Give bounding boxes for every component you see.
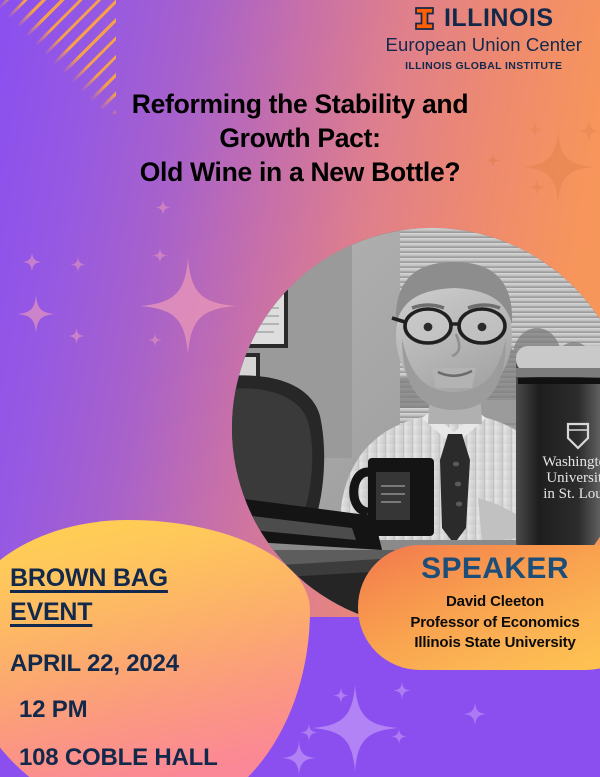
event-label-line-1: BROWN BAG [10, 563, 168, 595]
sparkle-icon [152, 246, 168, 265]
event-label-line-2-wrap: EVENT [10, 597, 280, 629]
svg-text:University: University [546, 470, 600, 486]
title-line-1: Reforming the Stability and [34, 88, 566, 122]
event-date: APRIL 22, 2024 [10, 650, 280, 678]
illinois-logo: ILLINOIS European Union Center ILLINOIS … [386, 6, 582, 71]
sparkle-icon [70, 255, 86, 274]
block-i-icon [414, 7, 435, 30]
sparkle-icon [17, 292, 55, 336]
title-line-3: Old Wine in a New Bottle? [34, 156, 566, 190]
sparkle-icon [140, 250, 236, 362]
event-details: BROWN BAG EVENT APRIL 22, 2024 12 PM 108… [10, 563, 280, 772]
logo-wordmark-row: ILLINOIS [386, 6, 582, 31]
sparkle-icon [155, 198, 171, 217]
speaker-title: Professor of Economics [390, 613, 600, 634]
event-poster: Washington University in St. Louis [0, 0, 600, 777]
logo-institute-name: ILLINOIS GLOBAL INSTITUTE [386, 61, 582, 72]
speaker-affiliation: Illinois State University [390, 633, 600, 654]
event-label-line-2: EVENT [10, 597, 92, 629]
speaker-details: SPEAKER David Cleeton Professor of Econo… [390, 552, 600, 654]
sparkle-icon [148, 332, 162, 348]
title-line-2: Growth Pact: [34, 122, 566, 156]
event-location: 108 COBLE HALL [19, 744, 280, 772]
svg-text:in St. Louis: in St. Louis [543, 486, 600, 502]
event-time: 12 PM [19, 696, 280, 724]
logo-unit-name: European Union Center [386, 36, 582, 55]
svg-text:Washington: Washington [542, 454, 600, 470]
speaker-name: David Cleeton [390, 592, 600, 613]
sparkle-icon [68, 326, 85, 346]
speaker-heading: SPEAKER [390, 552, 600, 585]
event-label-line-1-wrap: BROWN BAG [10, 563, 280, 595]
poster-title: Reforming the Stability and Growth Pact:… [0, 88, 600, 190]
sparkle-icon [22, 250, 42, 274]
logo-wordmark: ILLINOIS [444, 6, 554, 31]
